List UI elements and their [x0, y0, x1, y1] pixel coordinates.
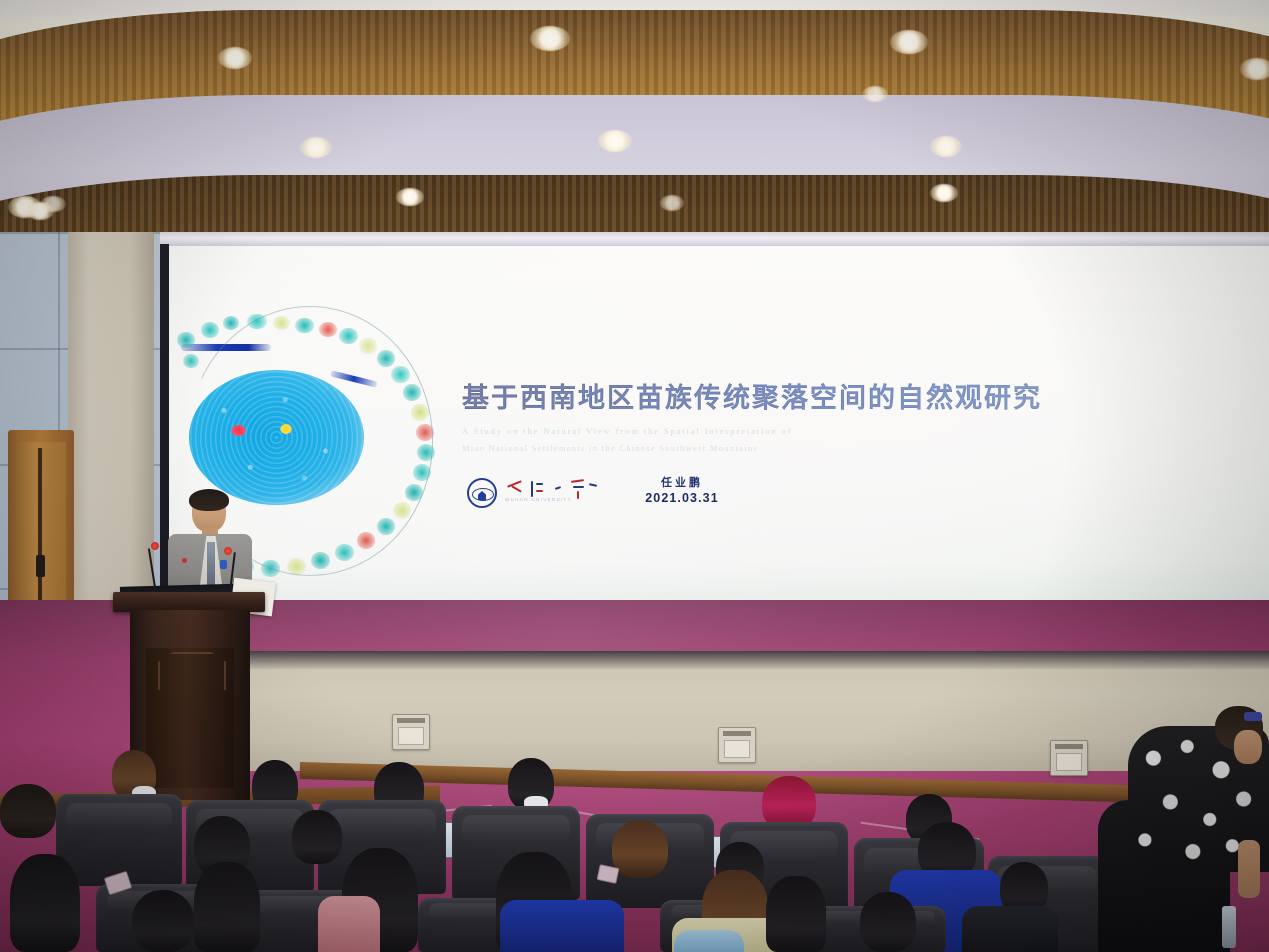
water-bottle-icon: [1222, 906, 1236, 948]
wall-outlet-plate-icon: [392, 714, 430, 750]
standing-person-face: [1234, 730, 1262, 764]
audience-shoulders: [674, 930, 744, 952]
audience-head: [292, 810, 342, 864]
door-handle-icon[interactable]: [36, 555, 45, 577]
recessed-downlight-icon: [300, 137, 332, 158]
audience-shoulders: [500, 900, 624, 952]
standing-person-arm: [1238, 840, 1260, 898]
slide-footer-block: WUHAN UNIVERSITY 任业鹏 2021.03.31: [467, 474, 887, 508]
recessed-downlight-icon: [890, 30, 928, 54]
presenter-lapel-pin: [182, 558, 187, 563]
recessed-downlight-icon: [1240, 58, 1269, 80]
slide-title-block: 基于西南地区苗族传统聚落空间的自然观研究 A Study on the Natu…: [462, 376, 1152, 453]
presenter-badge: [220, 560, 227, 569]
auditorium-photo: 基于西南地区苗族传统聚落空间的自然观研究 A Study on the Natu…: [0, 0, 1269, 952]
audience-head: [194, 862, 260, 952]
recessed-downlight-icon: [26, 202, 54, 220]
lectern-chevron-molding: [158, 652, 226, 690]
microphone-head-icon: [224, 547, 232, 555]
slide-subtitle-line-1: A Study on the Natural View from the Spa…: [462, 426, 1152, 436]
recessed-downlight-icon: [930, 136, 962, 157]
presentation-date: 2021.03.31: [623, 491, 741, 505]
author-block: 任业鹏 2021.03.31: [623, 474, 741, 505]
author-name: 任业鹏: [623, 474, 741, 490]
audience-shoulders: [318, 896, 380, 952]
lectern-icon: [113, 592, 265, 612]
screen-valance: [160, 232, 1269, 246]
presenter-hair: [189, 489, 229, 511]
audience-head: [10, 854, 80, 952]
audience-head: [132, 890, 194, 952]
recessed-downlight-icon: [660, 195, 684, 211]
audience-shoulders: [962, 906, 1058, 952]
recessed-downlight-icon: [396, 188, 424, 206]
slide-title: 基于西南地区苗族传统聚落空间的自然观研究: [462, 376, 1152, 415]
hair-clip-icon: [1244, 712, 1262, 721]
ceiling: [0, 0, 1269, 245]
recessed-downlight-icon: [218, 47, 252, 69]
university-subname: WUHAN UNIVERSITY: [505, 497, 572, 502]
microphone-head-icon: [151, 542, 159, 550]
presenter-tie: [207, 542, 215, 588]
slide-subtitle-line-2: Miao National Settlements in the Chinese…: [462, 443, 1152, 453]
university-seal-icon: [467, 478, 497, 508]
audience-head: [860, 892, 916, 952]
recessed-downlight-icon: [930, 184, 958, 202]
audience-head: [0, 784, 56, 838]
wall-outlet-plate-icon: [1050, 740, 1088, 776]
projection-screen: 基于西南地区苗族传统聚落空间的自然观研究 A Study on the Natu…: [169, 246, 1269, 651]
audience-head: [612, 820, 668, 878]
audience-head: [766, 876, 826, 952]
recessed-downlight-icon: [530, 26, 570, 51]
recessed-downlight-icon: [862, 86, 888, 102]
recessed-downlight-icon: [598, 130, 632, 152]
wall-outlet-plate-icon: [718, 727, 756, 763]
screen-lower-shadow: [169, 651, 1269, 669]
